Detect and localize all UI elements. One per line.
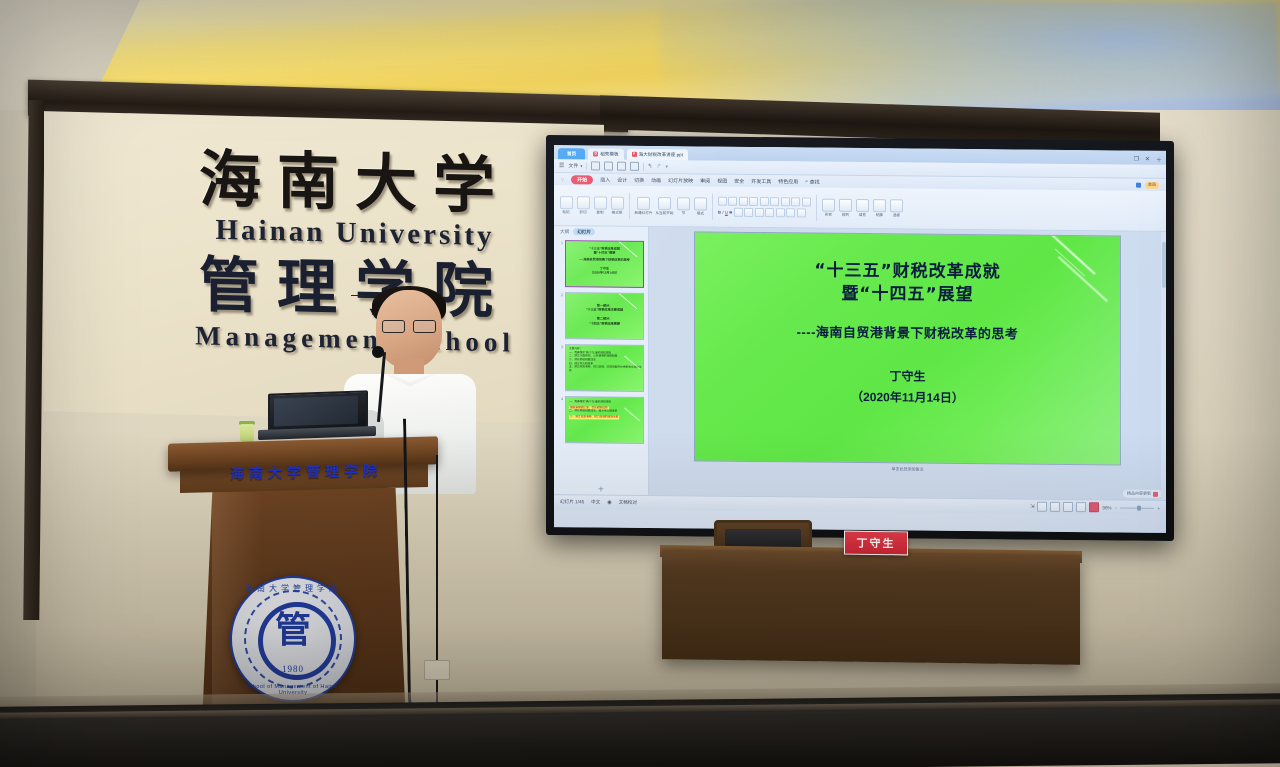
thumb3-line6: 五、建立权责清晰、财力协调、区域均衡的中央和地方财政关系 — [567, 365, 642, 373]
thumbnail-slide-2[interactable]: 第一部分： “十三五”财税改革主要成就 第二部分： “十四五”财税改革展望 — [565, 292, 644, 340]
tab-template-store[interactable]: D 稻壳模板 — [588, 148, 623, 159]
toolbar-divider — [586, 162, 587, 170]
ribbon-divider-2 — [712, 194, 713, 220]
bullets-icon[interactable] — [760, 197, 769, 206]
scrollbar-thumb[interactable] — [1162, 242, 1166, 288]
new-slide-icon — [637, 196, 650, 209]
tab-presentation-document[interactable]: P 海大财税改革讲座.ppt — [627, 149, 688, 161]
ribbon-divider-1 — [629, 193, 630, 219]
ribbon-button-select[interactable]: 选择 — [889, 199, 903, 218]
ribbon-collapse-icon[interactable]: ▽ — [561, 177, 564, 182]
thumbnail-number: 2 — [558, 292, 563, 297]
tab-bar-controls[interactable]: ❐ ✕ ＋ — [1134, 155, 1162, 165]
ribbon-tab-design[interactable]: 设计 — [617, 176, 627, 183]
redo-icon[interactable]: ↱ — [656, 163, 661, 170]
glasses-icon — [382, 320, 436, 331]
align-center-icon[interactable] — [776, 208, 785, 217]
align-right-icon[interactable] — [786, 208, 795, 217]
layout-icon — [694, 197, 707, 210]
decrease-indent-icon[interactable] — [781, 197, 790, 206]
ribbon-button-present-from-current[interactable]: 从当前开始 — [655, 197, 673, 216]
lecture-hall-photo: 海南大学 Hainan University 管理学院 Management S… — [0, 0, 1280, 767]
fill-label: 填充 — [859, 212, 866, 217]
increase-font-icon[interactable] — [739, 197, 748, 206]
save-as-icon[interactable] — [604, 162, 613, 171]
search-icon: ⌕ — [805, 178, 808, 184]
new-slide-label: 新建幻灯片 — [635, 210, 653, 215]
ribbon-toolbar[interactable]: 粘贴 剪切 复制 格式刷 新建幻灯片 从当前开始 节 版式 — [554, 185, 1166, 232]
ribbon-tab-start[interactable]: 开始 — [571, 175, 593, 184]
ribbon-tab-security[interactable]: 安全 — [734, 177, 744, 184]
thumb1-line5: （2020年11月14日） — [568, 270, 641, 275]
customize-icon[interactable]: ▾ — [665, 164, 668, 170]
new-tab-icon[interactable]: ＋ — [1156, 155, 1162, 164]
ribbon-button-cut[interactable]: 剪切 — [576, 196, 590, 215]
slide-author[interactable]: 丁守生 — [695, 365, 1120, 386]
ribbon-tab-insert[interactable]: 插入 — [600, 176, 610, 183]
ribbon-button-layout[interactable]: 版式 — [693, 197, 707, 216]
section-label: 节 — [682, 211, 686, 216]
fill-icon — [856, 198, 869, 211]
membership-badge[interactable]: 会员 — [1145, 181, 1159, 188]
panel-tab-strip[interactable]: 大纲 幻灯片 — [554, 226, 648, 238]
thumbnail-slide-1[interactable]: “十三五”财税改革成就 暨“十四五”展望 ----海南自贸港背景下财税改革的思考… — [565, 240, 644, 288]
strikethrough-button[interactable]: S — [729, 210, 732, 215]
ribbon-divider-3 — [816, 195, 817, 221]
print-preview-icon[interactable] — [630, 162, 639, 171]
tab-home[interactable]: 首页 — [558, 148, 585, 159]
slide-title[interactable]: “十三五”财税改革成就 暨“十四五”展望 — [695, 258, 1120, 308]
thumb4-line1: 一、完善落实“两个”比重的财政体制 — [567, 400, 642, 404]
arrange-label: 排列 — [842, 212, 849, 217]
floor-shadow — [0, 430, 1280, 710]
ribbon-button-paste[interactable]: 粘贴 — [559, 196, 573, 215]
undo-icon[interactable]: ↰ — [647, 163, 652, 170]
underline-button[interactable]: U — [725, 210, 728, 215]
decrease-font-icon[interactable] — [749, 197, 758, 206]
hamburger-icon[interactable]: ☰ — [559, 162, 564, 169]
slide-date[interactable]: （2020年11月14日） — [695, 386, 1120, 407]
ribbon-tab-review[interactable]: 审阅 — [700, 177, 710, 184]
ribbon-button-fill[interactable]: 填充 — [855, 198, 869, 217]
cut-label: 剪切 — [579, 210, 586, 215]
thumbnail-item-2[interactable]: 2 第一部分： “十三五”财税改革主要成就 第二部分： “十四五”财税改革展望 — [558, 292, 644, 340]
ribbon-button-new-slide[interactable]: 新建幻灯片 — [635, 196, 653, 215]
thumbnail-item-1[interactable]: 1 “十三五”财税改革成就 暨“十四五”展望 ----海南自贸港背景下财税改革的… — [558, 240, 644, 288]
wps-cloud-icon[interactable] — [1136, 182, 1141, 187]
copy-icon — [594, 196, 607, 209]
ribbon-button-arrange[interactable]: 排列 — [838, 198, 852, 217]
powerpoint-icon: P — [632, 152, 637, 157]
thumb2-line2: “十三五”财税改革主要成就 — [568, 307, 641, 312]
laptop-display — [274, 396, 358, 427]
file-menu-label: 文件 — [568, 162, 578, 169]
line-spacing-icon[interactable] — [802, 197, 811, 206]
wordart-icon — [822, 198, 835, 211]
restore-icon[interactable]: ❐ — [1134, 156, 1139, 163]
copy-label: 复制 — [596, 210, 603, 215]
ribbon-tab-animation[interactable]: 动画 — [651, 176, 661, 183]
paste-label: 粘贴 — [562, 210, 569, 215]
arrange-icon — [839, 198, 852, 211]
ribbon-tab-view[interactable]: 视图 — [717, 177, 727, 184]
ribbon-button-wordart[interactable]: 形状 — [821, 198, 835, 217]
thumbnail-number: 3 — [558, 344, 563, 349]
thumbnail-slide-3[interactable]: 主要内容： 一、完善落实“两个”比重的财政体制 二、建立全面规范、公开透明的预算… — [565, 344, 644, 392]
ribbon-button-outline[interactable]: 轮廓 — [872, 199, 886, 218]
close-icon[interactable]: ✕ — [1145, 156, 1150, 163]
ribbon-tab-featured-apps[interactable]: 特色应用 — [778, 178, 798, 185]
section-icon — [677, 197, 690, 210]
thumbnail-item-3[interactable]: 3 主要内容： 一、完善落实“两个”比重的财政体制 二、建立全面规范、公开透明的… — [558, 344, 644, 392]
font-family-selector[interactable] — [718, 197, 727, 206]
outline-label: 轮廓 — [876, 213, 883, 218]
highlight-icon[interactable] — [744, 208, 753, 217]
ribbon-right-controls[interactable]: 会员 — [1136, 181, 1159, 188]
clear-format-icon[interactable] — [755, 208, 764, 217]
tab-home-label: 首页 — [567, 151, 576, 157]
tab-document-label: 海大财税改革讲座.ppt — [639, 151, 683, 157]
italic-button[interactable]: I — [722, 210, 723, 215]
file-menu-button[interactable]: 文件 ▾ — [568, 162, 582, 169]
format-painter-icon — [611, 196, 624, 209]
present-icon — [658, 197, 671, 210]
thumbnail-number: 1 — [558, 240, 563, 245]
font-row-2[interactable]: B I U S — [718, 208, 811, 218]
chevron-down-icon: ▾ — [580, 163, 582, 168]
tab-outline[interactable]: 大纲 — [560, 229, 569, 235]
thumbnail-number: 4 — [558, 396, 563, 401]
ribbon-button-section[interactable]: 节 — [676, 197, 690, 216]
save-icon[interactable] — [591, 161, 600, 170]
font-size-selector[interactable] — [728, 197, 737, 206]
toolbar-divider-2 — [643, 162, 644, 170]
paste-icon — [560, 196, 573, 209]
bold-button[interactable]: B — [718, 210, 721, 215]
thumb1-line3: ----海南自贸港背景下财税改革的思考 — [568, 258, 641, 263]
ribbon-tab-developer[interactable]: 开发工具 — [751, 177, 771, 184]
thumb2-line4: “十四五”财税改革展望 — [568, 321, 641, 326]
ribbon-search-label: 查找 — [810, 178, 820, 185]
outline-icon — [873, 199, 886, 212]
select-label: 选择 — [893, 213, 900, 218]
numbering-icon[interactable] — [770, 197, 779, 206]
tab-slides[interactable]: 幻灯片 — [573, 228, 595, 235]
text-direction-icon[interactable] — [797, 208, 806, 217]
glasses-bridge — [351, 295, 363, 296]
format-painter-label: 格式刷 — [612, 210, 623, 215]
template-icon: D — [593, 151, 598, 156]
font-row-1[interactable] — [718, 197, 811, 207]
select-icon — [890, 199, 903, 212]
align-left-icon[interactable] — [765, 208, 774, 217]
increase-indent-icon[interactable] — [791, 197, 800, 206]
scissors-icon — [577, 196, 590, 209]
slide-subtitle[interactable]: ----海南自贸港背景下财税改革的思考 — [695, 320, 1120, 343]
ribbon-tab-transition[interactable]: 切换 — [634, 176, 644, 183]
print-icon[interactable] — [617, 162, 626, 171]
slide-title-line-2: 暨“十四五”展望 — [695, 281, 1120, 308]
font-group[interactable]: B I U S — [718, 197, 811, 218]
present-label: 从当前开始 — [655, 211, 673, 216]
ribbon-button-copy[interactable]: 复制 — [593, 196, 607, 215]
ribbon-tab-slideshow[interactable]: 幻灯片放映 — [668, 177, 693, 184]
font-color-icon[interactable] — [734, 208, 743, 217]
thumb4-line4: 三、建立权责清晰、财力协调的财政关系 — [569, 415, 619, 419]
layout-label: 版式 — [697, 211, 704, 216]
ribbon-button-format-painter[interactable]: 格式刷 — [610, 196, 624, 215]
wordart-label: 形状 — [825, 212, 832, 217]
sign-university-cn: 海南大学 — [120, 145, 590, 221]
tab-template-label: 稻壳模板 — [600, 151, 618, 157]
ribbon-search[interactable]: ⌕ 查找 — [805, 178, 819, 185]
